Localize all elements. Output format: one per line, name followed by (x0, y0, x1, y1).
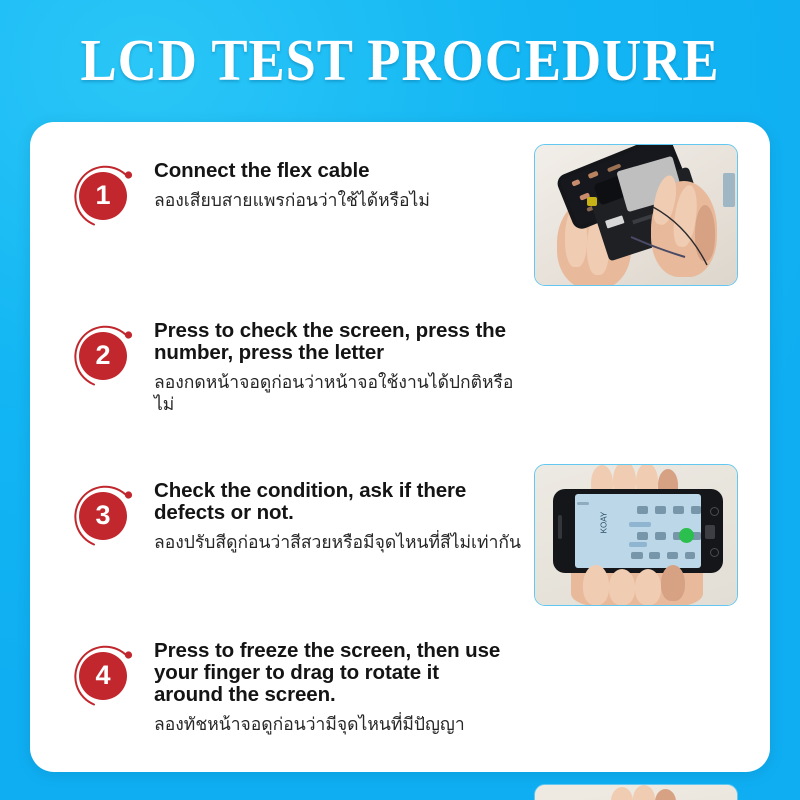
step-text-thai: ลองเสียบสายแพรก่อนว่าใช้ได้หรือไม่ (154, 189, 526, 211)
step-text-thai: ลองทัชหน้าจอดูก่อนว่ามีจุดไหนที่มีปัญญา (154, 713, 526, 735)
badge-number: 3 (95, 502, 110, 529)
photo-background (535, 785, 737, 800)
photo-connect-flex-cable (534, 144, 738, 286)
step-item: 3 Check the condition, ask if there defe… (30, 448, 770, 608)
step-text-english: Connect the flex cable (154, 160, 512, 182)
finger-shape (655, 789, 676, 800)
finger-shape (611, 787, 633, 800)
badge-number: 4 (95, 662, 110, 689)
photo-background (535, 145, 737, 285)
step-text-english: Check the condition, ask if there defect… (154, 480, 512, 524)
badge-circle: 2 (79, 332, 127, 380)
step-item: 4 Press to freeze the screen, then use y… (30, 608, 770, 768)
step-text-english: Press to check the screen, press the num… (154, 320, 512, 364)
step-number-badge: 1 (70, 162, 136, 228)
step-text: Check the condition, ask if there defect… (154, 480, 770, 553)
badge-circle: 3 (79, 492, 127, 540)
badge-circle: 1 (79, 172, 127, 220)
step-number-badge: 3 (70, 482, 136, 548)
step-number-badge: 2 (70, 322, 136, 388)
step-item: 1 Connect the flex cable ลองเสียบสายแพรก… (30, 128, 770, 288)
step-text: Press to check the screen, press the num… (154, 320, 770, 415)
step-text: Press to freeze the screen, then use you… (154, 640, 770, 735)
badge-number: 1 (95, 182, 110, 209)
step-number-badge: 4 (70, 642, 136, 708)
step-item: 2 Press to check the screen, press the n… (30, 288, 770, 448)
step-text-thai: ลองกดหน้าจอดูก่อนว่าหน้าจอใช้งานได้ปกติห… (154, 371, 526, 415)
background-object (723, 173, 735, 207)
badge-circle: 4 (79, 652, 127, 700)
finger-shape (633, 785, 655, 800)
steps-card: 1 Connect the flex cable ลองเสียบสายแพรก… (30, 122, 770, 772)
step-text-english: Press to freeze the screen, then use you… (154, 640, 512, 706)
lcd-test-procedure-poster: LCD TEST PROCEDURE 1 Connect the flex ca… (0, 0, 800, 800)
cable-wire (535, 145, 737, 285)
page-title: LCD TEST PROCEDURE (32, 28, 768, 92)
photo-blue-screen-test (534, 784, 738, 800)
step-text-thai: ลองปรับสีดูก่อนว่าสีสวยหรือมีจุดไหนที่สี… (154, 531, 526, 553)
steps-list: 1 Connect the flex cable ลองเสียบสายแพรก… (30, 122, 770, 772)
badge-number: 2 (95, 342, 110, 369)
